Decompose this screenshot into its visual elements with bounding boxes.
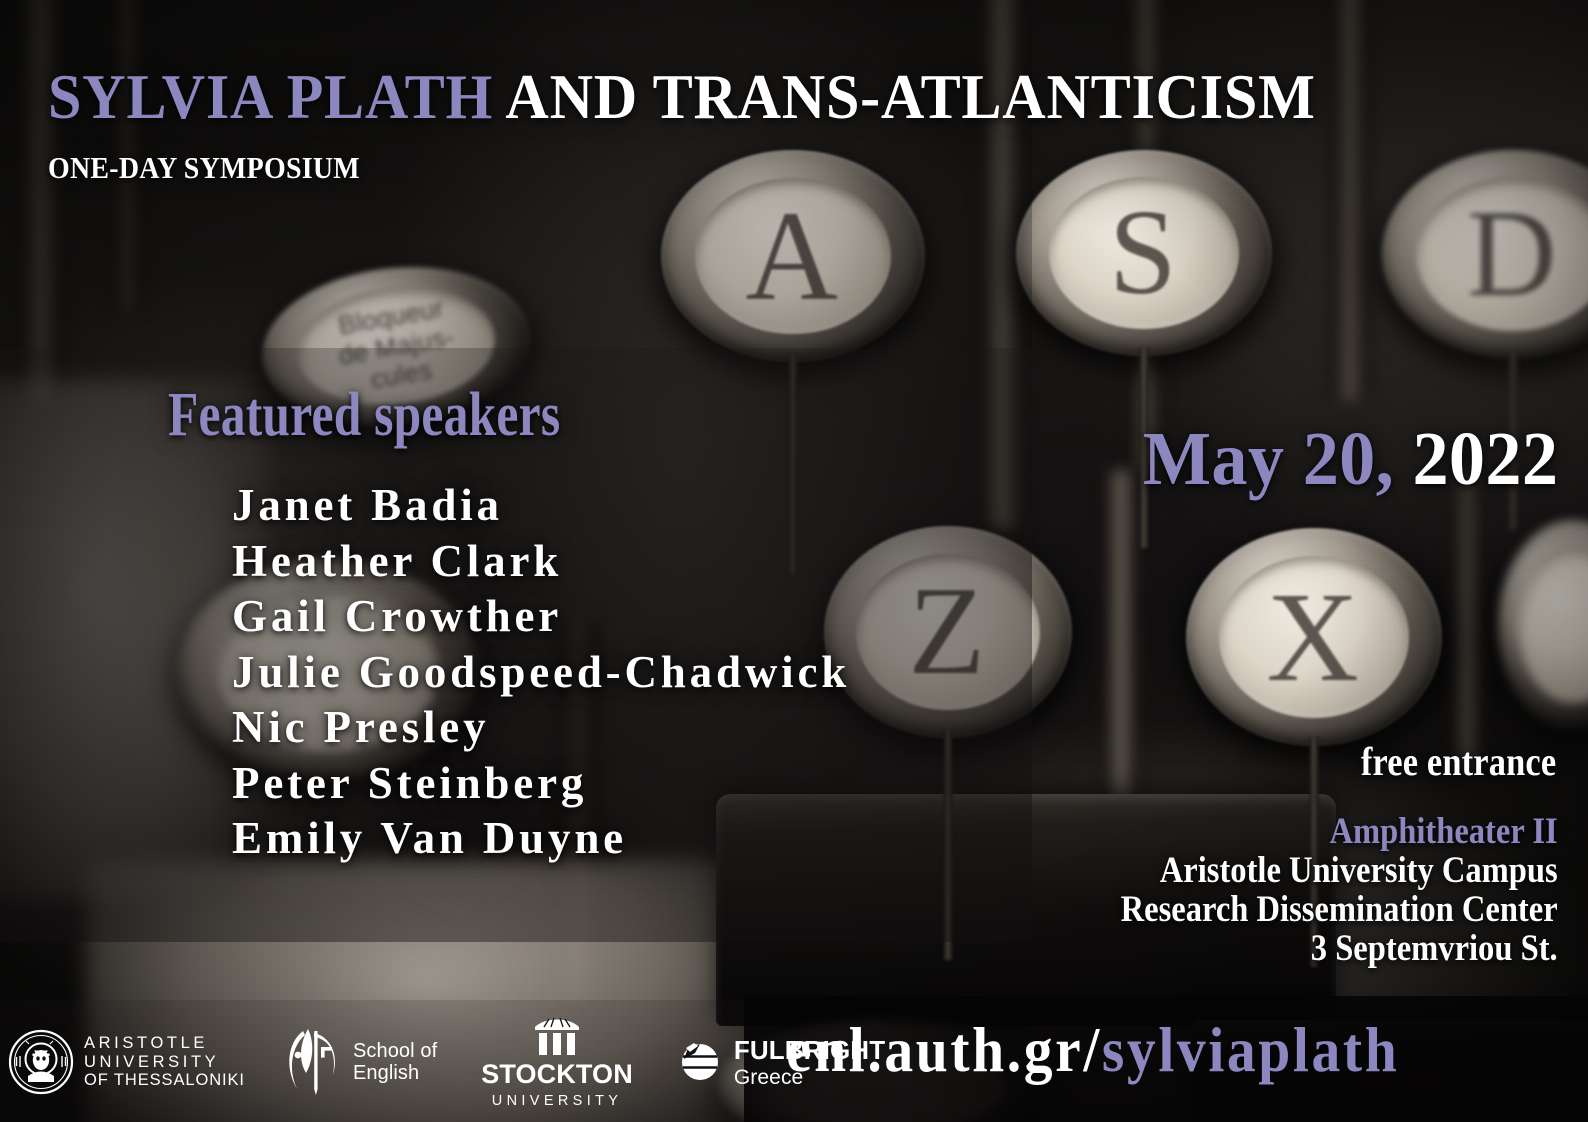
- logo-line: OF THESSALONIKI: [84, 1071, 245, 1089]
- stockton-pavilion-icon: [531, 1016, 583, 1056]
- logo-line: School of: [353, 1040, 437, 1062]
- logo-label: ARISTOTLE UNIVERSITY OF THESSALONIKI: [84, 1034, 245, 1089]
- speaker-list: Janet Badia Heather Clark Gail Crowther …: [232, 478, 850, 867]
- venue-room: Amphitheater II: [1121, 812, 1558, 851]
- logo-line: STOCKTON: [481, 1059, 633, 1090]
- title-accent: SYLVIA PLATH: [48, 61, 493, 132]
- list-item: Heather Clark: [232, 534, 850, 590]
- logo-school-of-english: School of English: [281, 1017, 437, 1107]
- venue-line: Research Dissemination Center: [1121, 890, 1558, 929]
- title-rest: AND TRANS-ATLANTICISM: [493, 61, 1316, 132]
- logo-line: Greece: [734, 1066, 885, 1090]
- list-item: Nic Presley: [232, 700, 850, 756]
- logo-stockton-university: STOCKTON UNIVERSITY: [481, 1016, 633, 1109]
- partner-logo-strip: ARISTOTLE UNIVERSITY OF THESSALONIKI: [8, 1012, 885, 1112]
- event-date-accent: May 20,: [1143, 417, 1394, 501]
- logo-label: School of English: [353, 1040, 437, 1085]
- logo-line: UNIVERSITY: [84, 1053, 219, 1071]
- subtitle: ONE-DAY SYMPOSIUM: [48, 150, 360, 186]
- logo-line: FULBRIGHT: [734, 1035, 885, 1066]
- venue-line: Aristotle University Campus: [1121, 851, 1558, 890]
- page-title: SYLVIA PLATH AND TRANS-ATLANTICISM: [48, 60, 1316, 134]
- event-date: May 20, 2022: [1143, 416, 1558, 503]
- event-poster: A S D Z X Bloqueur de Majus- cules: [0, 0, 1588, 1122]
- venue-line: 3 Septemvriou St.: [1121, 929, 1558, 968]
- logo-line: English: [353, 1062, 419, 1084]
- free-entrance-note: free entrance: [1361, 738, 1556, 785]
- list-item: Emily Van Duyne: [232, 811, 850, 867]
- url-path: sylviaplath: [1102, 1014, 1399, 1085]
- logo-label: FULBRIGHT Greece: [734, 1035, 885, 1090]
- venue-block: Amphitheater II Aristotle University Cam…: [1121, 812, 1558, 968]
- logo-fulbright-greece: FULBRIGHT Greece: [677, 1035, 885, 1090]
- school-of-english-mark-icon: [281, 1017, 343, 1107]
- featured-speakers-heading: Featured speakers: [168, 380, 560, 451]
- list-item: Janet Badia: [232, 478, 850, 534]
- logo-line: UNIVERSITY: [492, 1093, 623, 1109]
- fulbright-globe-icon: [677, 1039, 723, 1085]
- list-item: Peter Steinberg: [232, 756, 850, 812]
- list-item: Gail Crowther: [232, 589, 850, 645]
- logo-line: ARISTOTLE: [84, 1034, 208, 1052]
- event-date-year: 2022: [1394, 417, 1558, 501]
- logo-aristotle-university: ARISTOTLE UNIVERSITY OF THESSALONIKI: [8, 1029, 245, 1095]
- aristotle-seal-icon: [8, 1029, 74, 1095]
- list-item: Julie Goodspeed-Chadwick: [232, 645, 850, 701]
